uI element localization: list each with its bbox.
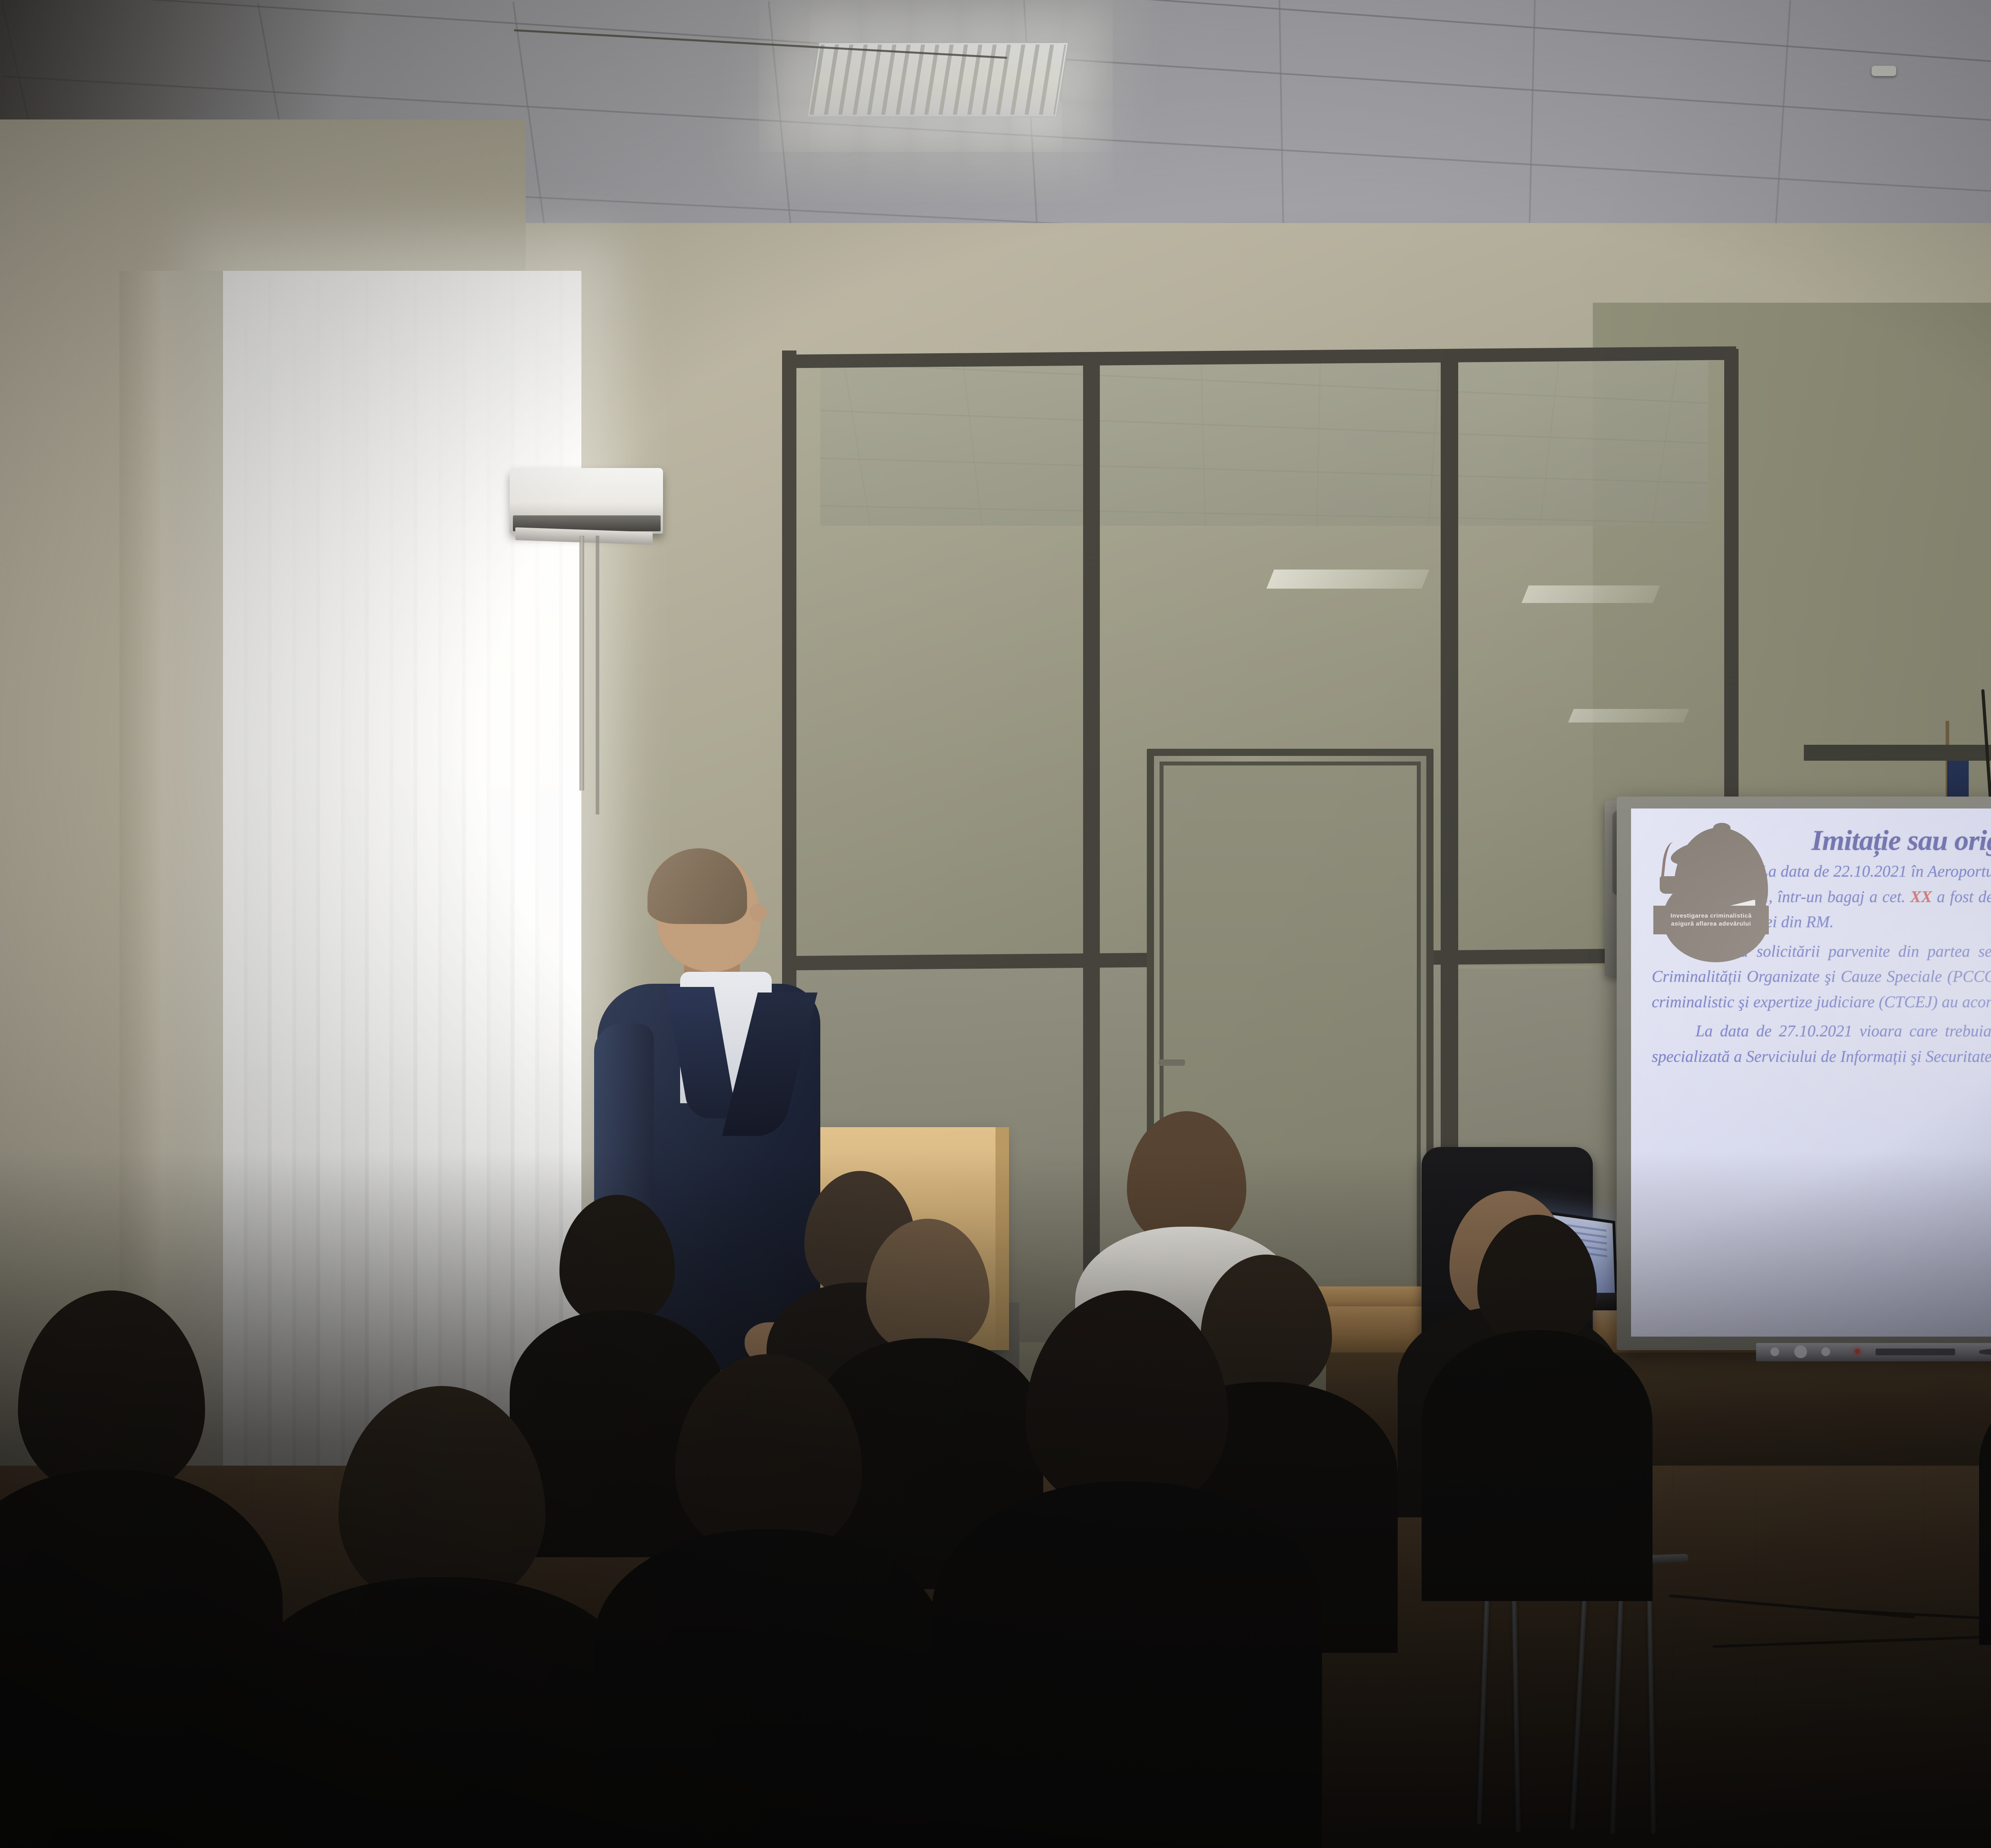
- emblem-hat-button: [1713, 823, 1731, 833]
- head: [675, 1354, 862, 1557]
- slide-p1-highlight: XX: [1910, 887, 1932, 906]
- emblem-motto-line-2: asigură aflarea adevărului: [1671, 920, 1751, 928]
- emblem-motto-banner: Investigarea criminalistică asigură afla…: [1653, 906, 1769, 934]
- glass-reflection-3: [1568, 709, 1689, 722]
- ac-pipe: [579, 536, 584, 791]
- tray-button-2[interactable]: [1794, 1345, 1807, 1358]
- head: [559, 1195, 675, 1326]
- emblem-motto-line-1: Investigarea criminalistică: [1670, 912, 1752, 920]
- conference-room-photo: Investigarea criminalistică asigură afla…: [0, 0, 1991, 1848]
- torso: [251, 1577, 633, 1848]
- door-handle[interactable]: [1159, 1059, 1185, 1066]
- glass-reflection-2: [1522, 585, 1660, 603]
- emblem-pipe-bowl-icon: [1660, 876, 1682, 894]
- head: [1477, 1215, 1597, 1346]
- tray-status-led: [1855, 1349, 1860, 1354]
- whiteboard-screen[interactable]: Investigarea criminalistică asigură afla…: [1631, 808, 1991, 1337]
- slide-paragraph-1: La data de 22.10.2021 în Aeroportul Inte…: [1731, 859, 1991, 935]
- torso: [932, 1482, 1322, 1848]
- light-diffuser-slats: [810, 45, 1066, 115]
- audience-member-mid-4: [1426, 1215, 1649, 1597]
- slide-paragraph-3: La data de 27.10.2021 vioara care trebui…: [1652, 1018, 1991, 1069]
- torso: [0, 1470, 283, 1848]
- head: [18, 1290, 205, 1498]
- torso: [593, 1529, 944, 1848]
- glass-reflection-1: [1266, 570, 1429, 589]
- tray-pen-slot-1[interactable]: [1876, 1349, 1955, 1355]
- whiteboard-pen-tray[interactable]: [1756, 1343, 1991, 1361]
- presenter-nose: [749, 904, 767, 921]
- audience-member-front-3: [605, 1354, 932, 1848]
- projector-mount-arm-horizontal: [1804, 745, 1991, 761]
- interactive-whiteboard[interactable]: Investigarea criminalistică asigură afla…: [1617, 797, 1991, 1350]
- smoke-detector-icon: [1872, 66, 1896, 76]
- audience-member-front-1: [0, 1290, 271, 1848]
- tray-button-3[interactable]: [1821, 1347, 1830, 1356]
- forensics-emblem-icon: Investigarea criminalistică asigură afla…: [1649, 828, 1769, 963]
- tray-button-1[interactable]: [1770, 1347, 1779, 1356]
- audience-member-front-4: [948, 1290, 1306, 1848]
- head: [338, 1386, 546, 1609]
- air-conditioner: [510, 468, 663, 534]
- audience-member-mid-5: [1987, 1247, 1991, 1641]
- ac-drain-pipe: [596, 536, 599, 814]
- audience-member-front-2: [263, 1386, 621, 1848]
- head: [1025, 1290, 1228, 1513]
- head: [1127, 1111, 1246, 1247]
- torso: [1422, 1330, 1653, 1601]
- presentation-slide: Investigarea criminalistică asigură afla…: [1631, 808, 1991, 1337]
